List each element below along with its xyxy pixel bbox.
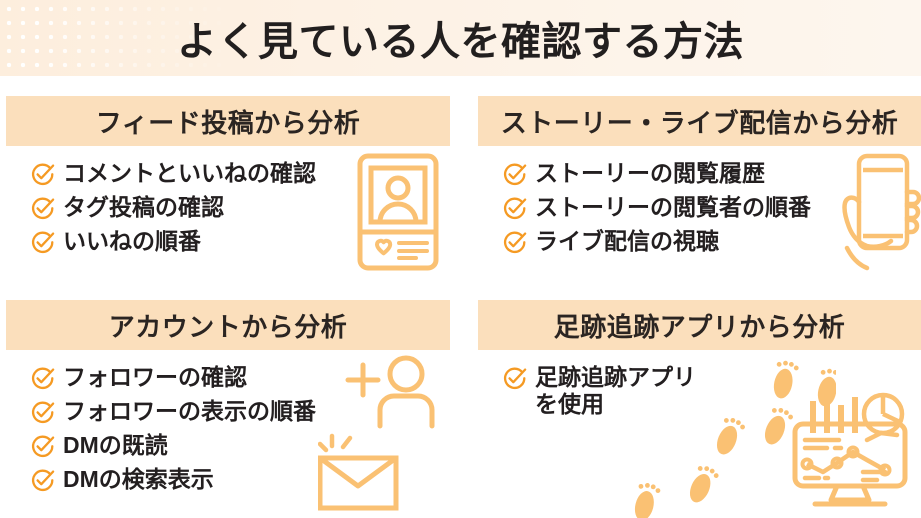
list-item-label: ストーリーの閲覧者の順番: [535, 194, 811, 221]
envelope-icon: [318, 432, 404, 512]
add-user-icon: [344, 354, 444, 430]
card-story-live-header: ストーリー・ライブ配信から分析: [478, 96, 921, 146]
card-tracking-app-title: 足跡追跡アプリから分析: [554, 307, 846, 344]
check-circle-icon: [30, 196, 55, 221]
check-circle-icon: [502, 230, 527, 255]
check-circle-icon: [30, 366, 55, 391]
card-account: アカウントから分析: [6, 300, 450, 518]
card-feed-title: フィード投稿から分析: [96, 103, 360, 140]
card-account-item-list: フォロワーの確認 フォロワーの表示の順番: [30, 364, 316, 501]
hand-holding-phone-icon: [833, 150, 921, 280]
card-feed: フィード投稿から分析: [6, 96, 450, 296]
list-item-label: 足跡追跡アプリ を使用: [535, 364, 696, 418]
analytics-monitor-icon: [785, 392, 915, 512]
list-item-label: ストーリーの閲覧履歴: [535, 160, 765, 187]
card-feed-header: フィード投稿から分析: [6, 96, 450, 146]
check-circle-icon: [502, 196, 527, 221]
card-feed-item-list: コメントといいねの確認 タグ投稿の確認: [30, 160, 316, 262]
list-item[interactable]: ストーリーの閲覧履歴: [502, 160, 811, 187]
list-item[interactable]: ストーリーの閲覧者の順番: [502, 194, 811, 221]
list-item[interactable]: ライブ配信の視聴: [502, 228, 811, 255]
list-item-label: フォロワーの確認: [63, 364, 247, 391]
list-item[interactable]: DMの既読: [30, 432, 316, 459]
page-title: よく見ている人を確認する方法: [0, 0, 921, 76]
check-circle-icon: [30, 400, 55, 425]
card-account-header: アカウントから分析: [6, 300, 450, 350]
card-grid: フィード投稿から分析: [0, 76, 921, 518]
list-item[interactable]: DMの検索表示: [30, 466, 316, 493]
list-item-label: DMの検索表示: [63, 466, 214, 493]
card-tracking-app-body: 足跡追跡アプリ を使用: [478, 350, 921, 518]
list-item-label: いいねの順番: [63, 228, 201, 255]
card-account-title: アカウントから分析: [109, 307, 348, 344]
check-circle-icon: [502, 366, 527, 391]
feed-post-icon: [354, 152, 450, 274]
card-feed-body: コメントといいねの確認 タグ投稿の確認: [6, 146, 450, 296]
list-item[interactable]: フォロワーの表示の順番: [30, 398, 316, 425]
check-circle-icon: [30, 230, 55, 255]
list-item-label: タグ投稿の確認: [63, 194, 224, 221]
list-item[interactable]: タグ投稿の確認: [30, 194, 316, 221]
list-item[interactable]: 足跡追跡アプリ を使用: [502, 364, 696, 418]
card-tracking-app-item-list: 足跡追跡アプリ を使用: [502, 364, 696, 425]
list-item-label: DMの既読: [63, 432, 168, 459]
check-circle-icon: [30, 162, 55, 187]
check-circle-icon: [30, 468, 55, 493]
list-item-label: フォロワーの表示の順番: [63, 398, 316, 425]
list-item-label: コメントといいねの確認: [63, 160, 316, 187]
card-story-live: ストーリー・ライブ配信から分析: [478, 96, 921, 296]
list-item[interactable]: いいねの順番: [30, 228, 316, 255]
card-story-live-item-list: ストーリーの閲覧履歴 ストーリーの閲覧者の順番: [502, 160, 811, 262]
card-account-body: フォロワーの確認 フォロワーの表示の順番: [6, 350, 450, 518]
card-story-live-body: ストーリーの閲覧履歴 ストーリーの閲覧者の順番: [478, 146, 921, 296]
list-item-label: ライブ配信の視聴: [535, 228, 719, 255]
list-item[interactable]: フォロワーの確認: [30, 364, 316, 391]
card-tracking-app: 足跡追跡アプリから分析: [478, 300, 921, 518]
card-story-live-title: ストーリー・ライブ配信から分析: [501, 103, 899, 140]
list-item[interactable]: コメントといいねの確認: [30, 160, 316, 187]
check-circle-icon: [30, 434, 55, 459]
check-circle-icon: [502, 162, 527, 187]
card-tracking-app-header: 足跡追跡アプリから分析: [478, 300, 921, 350]
page-header: よく見ている人を確認する方法: [0, 0, 921, 76]
